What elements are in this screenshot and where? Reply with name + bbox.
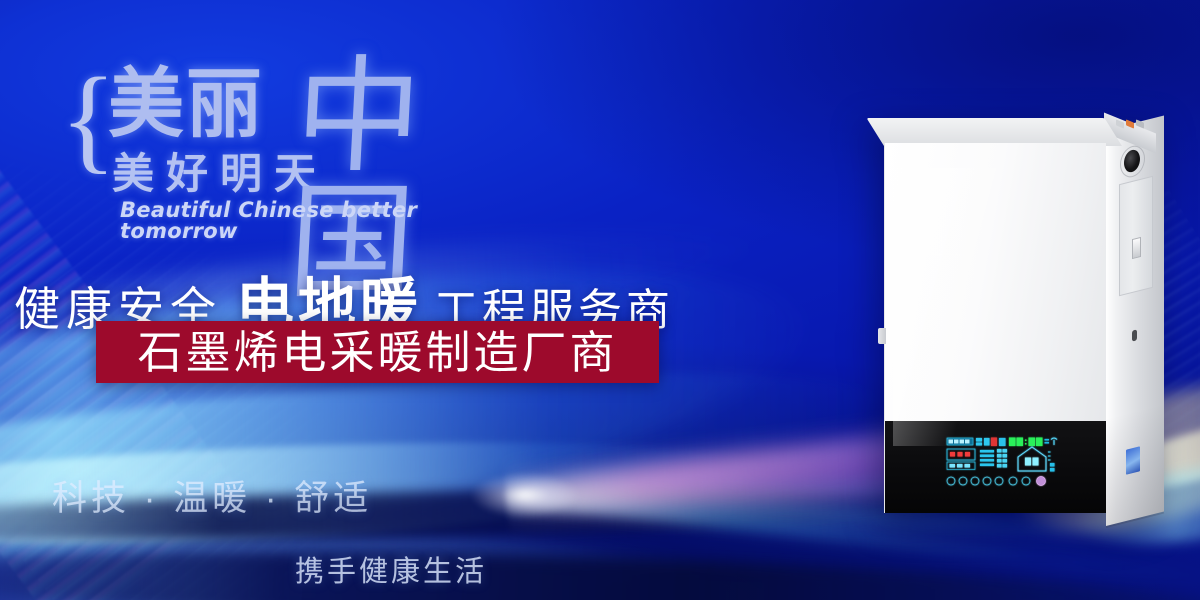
red-banner: 石墨烯电采暖制造厂商 [96,321,659,383]
product-side-hole [1132,329,1137,341]
logo-english-tagline: Beautiful Chinese better tomorrow [120,200,480,242]
product-side-recessed-panel [1119,176,1153,296]
brand-logo: { 美丽 美好明天 中国 Beautiful Chinese better to… [60,48,480,223]
light-burst-core [455,466,595,524]
logo-line-1: 美丽 [108,66,264,142]
product-control-panel [885,421,1106,513]
product-front-face [884,143,1106,513]
product-electric-boiler [876,118,1166,530]
product-left-nub [878,328,886,344]
promo-banner: { 美丽 美好明天 中国 Beautiful Chinese better to… [0,0,1200,600]
product-front-gloss [893,168,1115,446]
slogan-left: 科技 · 温暖 · 舒适 [52,470,372,521]
product-top-face [867,118,1122,146]
red-banner-text: 石墨烯电采暖制造厂商 [137,330,617,375]
product-lcd-display [943,435,1061,495]
slogan-bottom: 携手健康生活 [295,548,487,590]
product-side-slot [1132,237,1141,259]
product-side-blue-indicator [1126,446,1140,474]
